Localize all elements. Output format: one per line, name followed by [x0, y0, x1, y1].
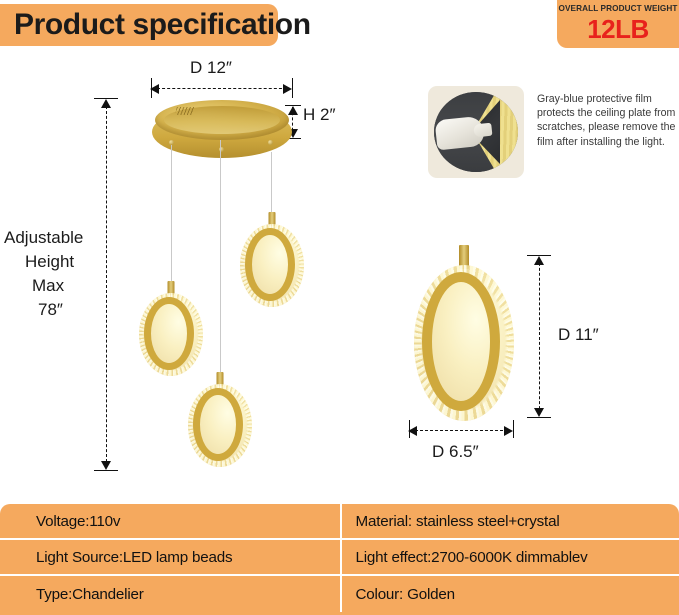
- adjustable-height-label-line1: Adjustable: [4, 228, 83, 248]
- ring-height-dashline: [539, 258, 540, 414]
- protective-film-photo-card: [428, 86, 524, 178]
- ring-height-label: D 11″: [558, 325, 599, 345]
- ring-width-arrow-right: [504, 426, 513, 436]
- adjustable-height-label-line3: Max: [32, 276, 64, 296]
- plate-diameter-label: D 12″: [190, 58, 232, 78]
- weight-value: 12LB: [557, 14, 679, 44]
- pendant-wire: [271, 152, 272, 212]
- spec-light-source: Light Source:LED lamp beads: [0, 540, 340, 574]
- ring-width-arrow-left: [408, 426, 417, 436]
- table-row: Voltage:110v Material: stainless steel+c…: [0, 504, 679, 540]
- ring-width-tick-right: [513, 420, 514, 438]
- pendant-ring-band: [144, 297, 194, 370]
- adjustable-height-tick-bottom: [94, 470, 118, 471]
- ring-width-dashline: [415, 430, 508, 431]
- specification-table: Voltage:110v Material: stainless steel+c…: [0, 504, 679, 615]
- ceiling-plate-screw: [268, 140, 273, 145]
- spec-colour: Colour: Golden: [340, 576, 679, 612]
- adjustable-height-arrow-down: [101, 461, 111, 470]
- ring-height-tick-bottom: [527, 417, 551, 418]
- adjustable-height-arrow-up: [101, 99, 111, 108]
- pendant-ring: [137, 281, 205, 376]
- protective-film-photo: [434, 92, 518, 172]
- overall-weight-badge: OVERALL PRODUCT WEIGHT 12LB: [557, 0, 679, 48]
- adjustable-height-dashline: [106, 101, 107, 467]
- plate-diameter-arrow-left: [150, 84, 159, 94]
- pendant-wire: [171, 145, 172, 281]
- weight-label: OVERALL PRODUCT WEIGHT: [557, 3, 679, 14]
- adjustable-height-label-line4: 78″: [38, 300, 63, 320]
- ring-detail-band: [422, 272, 500, 411]
- table-row: Type:Chandelier Colour: Golden: [0, 576, 679, 612]
- pendant-ring-band: [245, 228, 295, 301]
- page-title: Product specification: [14, 8, 311, 42]
- plate-height-label: H 2″: [303, 105, 335, 125]
- pendant-wire: [220, 140, 221, 372]
- pendant-ring-band: [193, 388, 243, 461]
- ceiling-plate-vents-icon: [175, 107, 195, 115]
- pendant-ring: [186, 372, 254, 467]
- ring-height-arrow-down: [534, 408, 544, 417]
- spec-type: Type:Chandelier: [0, 576, 340, 612]
- ring-detail: [412, 245, 516, 421]
- plate-diameter-arrow-right: [283, 84, 292, 94]
- ring-height-arrow-up: [534, 256, 544, 265]
- spec-voltage: Voltage:110v: [0, 504, 340, 538]
- plate-diameter-dashline: [157, 88, 287, 89]
- table-row: Light Source:LED lamp beads Light effect…: [0, 540, 679, 576]
- spec-material: Material: stainless steel+crystal: [340, 504, 679, 538]
- protective-film-note: Gray-blue protective film protects the c…: [537, 92, 679, 149]
- plate-diameter-tick-right: [292, 78, 293, 98]
- ring-width-label: D 6.5″: [432, 442, 479, 462]
- adjustable-height-label-line2: Height: [25, 252, 74, 272]
- pendant-ring: [238, 212, 306, 307]
- spec-light-effect: Light effect:2700-6000K dimmablev: [340, 540, 679, 574]
- page-title-badge: Product specification: [0, 4, 278, 46]
